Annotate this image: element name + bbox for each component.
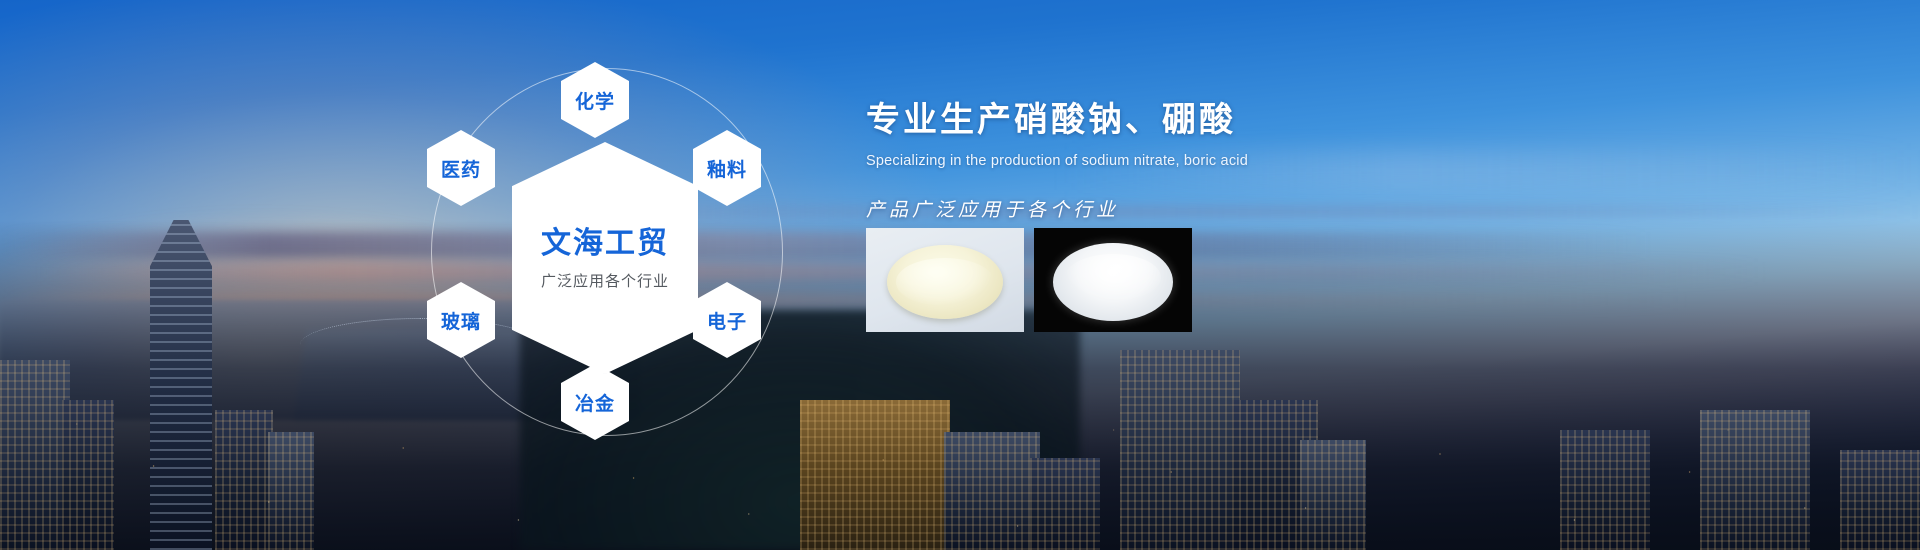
banner-copy: 专业生产硝酸钠、硼酸 Specializing in the productio… [866, 100, 1566, 222]
hex-label: 釉料 [707, 155, 747, 182]
banner-tagline: 产品广泛应用于各个行业 [866, 195, 1566, 222]
industry-hex-diagram: 化学 釉料 电子 冶金 玻璃 医药 文海工贸 广泛应用各个行业 [395, 20, 815, 480]
banner-headline: 专业生产硝酸钠、硼酸 [866, 100, 1566, 141]
company-name: 文海工贸 [541, 225, 669, 263]
company-slogan: 广泛应用各个行业 [541, 270, 669, 291]
powder-mound [887, 245, 1003, 319]
hex-label: 玻璃 [441, 307, 481, 334]
hex-label: 冶金 [575, 389, 615, 416]
hex-label: 化学 [575, 87, 615, 114]
product-photo-sodium-nitrate[interactable] [866, 228, 1024, 332]
hex-label: 医药 [441, 155, 481, 182]
product-photo-group [866, 228, 1192, 332]
powder-mound [1053, 243, 1173, 321]
hex-label: 电子 [707, 307, 747, 334]
banner-subline-english: Specializing in the production of sodium… [866, 153, 1566, 169]
hex-company-center[interactable]: 文海工贸 广泛应用各个行业 [512, 142, 698, 374]
promo-banner: 化学 釉料 电子 冶金 玻璃 医药 文海工贸 广泛应用各个行业 专业生产硝酸钠、… [0, 0, 1920, 550]
product-photo-boric-acid[interactable] [1034, 228, 1192, 332]
